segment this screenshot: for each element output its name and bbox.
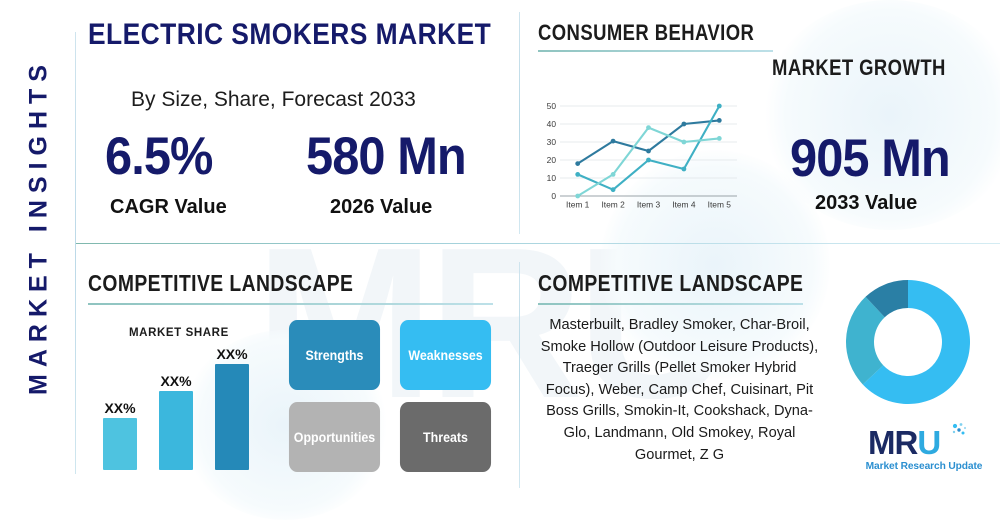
company-list: Masterbuilt, Bradley Smoker, Char-Broil,… bbox=[537, 315, 822, 466]
bar bbox=[215, 364, 249, 470]
svg-text:20: 20 bbox=[547, 155, 557, 165]
swot-grid: StrengthsWeaknessesOpportunitiesThreats bbox=[285, 320, 495, 472]
bar bbox=[159, 391, 193, 470]
line-chart-svg: 01020304050Item 1Item 2Item 3Item 4Item … bbox=[536, 100, 741, 218]
competitive-landscape-right-rule bbox=[538, 303, 803, 305]
swot-cell-weaknesses[interactable]: Weaknesses bbox=[400, 320, 491, 390]
swot-cell-opportunities[interactable]: Opportunities bbox=[289, 402, 380, 472]
mru-logo: MRU Market Research Update bbox=[862, 424, 986, 480]
value-2033-label: 2033 Value bbox=[815, 192, 917, 215]
svg-text:10: 10 bbox=[547, 173, 557, 183]
bar-value-label: XX% bbox=[100, 400, 140, 416]
svg-text:Item 1: Item 1 bbox=[566, 200, 590, 210]
logo-mr: MR bbox=[868, 424, 917, 461]
logo-tagline: Market Research Update bbox=[862, 461, 986, 472]
cagr-label: CAGR Value bbox=[110, 196, 227, 219]
value-2026: 580 Mn bbox=[306, 126, 466, 187]
sidebar-divider bbox=[75, 32, 76, 474]
svg-text:30: 30 bbox=[547, 137, 557, 147]
svg-text:Item 3: Item 3 bbox=[637, 200, 661, 210]
logo-u: U bbox=[917, 424, 940, 461]
market-share-bar-chart: XX%XX%XX% bbox=[103, 345, 268, 470]
competitive-landscape-left-rule bbox=[88, 303, 493, 305]
vertical-divider-top bbox=[519, 12, 520, 234]
sidebar-label: MARKET INSIGHTS bbox=[25, 12, 54, 442]
swot-cell-strengths[interactable]: Strengths bbox=[289, 320, 380, 390]
svg-text:Item 4: Item 4 bbox=[672, 200, 696, 210]
water-drop-icon bbox=[948, 422, 974, 448]
value-2033: 905 Mn bbox=[790, 128, 950, 189]
svg-text:50: 50 bbox=[547, 101, 557, 111]
consumer-behavior-rule bbox=[538, 50, 773, 52]
donut-chart-svg bbox=[838, 272, 978, 412]
svg-text:Item 2: Item 2 bbox=[601, 200, 625, 210]
bar bbox=[103, 418, 137, 471]
horizontal-divider bbox=[76, 243, 1000, 244]
logo-wordmark: MRU bbox=[868, 424, 940, 462]
svg-text:0: 0 bbox=[551, 191, 556, 201]
svg-text:40: 40 bbox=[547, 119, 557, 129]
sidebar-rail: MARKET INSIGHTS bbox=[0, 0, 76, 500]
vertical-divider-bottom bbox=[519, 262, 520, 488]
consumer-behavior-line-chart: 01020304050Item 1Item 2Item 3Item 4Item … bbox=[536, 100, 741, 218]
value-2026-label: 2026 Value bbox=[330, 196, 432, 219]
competitive-landscape-left-title: COMPETITIVE LANDSCAPE bbox=[88, 270, 353, 297]
consumer-behavior-title: CONSUMER BEHAVIOR bbox=[538, 20, 754, 46]
cagr-value: 6.5% bbox=[105, 126, 212, 187]
svg-text:Item 5: Item 5 bbox=[708, 200, 732, 210]
competitive-landscape-right-title: COMPETITIVE LANDSCAPE bbox=[538, 270, 803, 297]
page-title: ELECTRIC SMOKERS MARKET bbox=[88, 18, 491, 52]
market-share-label: MARKET SHARE bbox=[129, 327, 229, 339]
market-growth-title: MARKET GROWTH bbox=[772, 55, 946, 81]
swot-cell-threats[interactable]: Threats bbox=[400, 402, 491, 472]
bar-value-label: XX% bbox=[212, 346, 252, 362]
market-share-donut-chart bbox=[838, 272, 978, 412]
bar-value-label: XX% bbox=[156, 373, 196, 389]
page-subtitle: By Size, Share, Forecast 2033 bbox=[131, 88, 416, 112]
